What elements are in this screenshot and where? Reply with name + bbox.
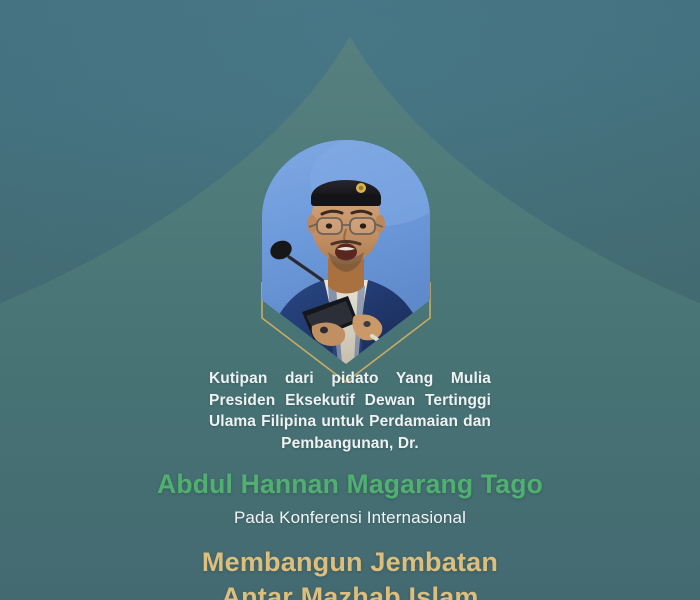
quote-lead-text: Kutipan dari pidato Yang Mulia Presiden … xyxy=(209,368,491,454)
conference-title-line-2: Antar Mazhab Islam xyxy=(0,580,700,600)
text-content: Kutipan dari pidato Yang Mulia Presiden … xyxy=(0,368,700,600)
event-subtitle: Pada Konferensi Internasional xyxy=(0,507,700,529)
poster-canvas: Kutipan dari pidato Yang Mulia Presiden … xyxy=(0,0,700,600)
conference-title: Membangun Jembatan Antar Mazhab Islam xyxy=(0,545,700,600)
speaker-name: Abdul Hannan Magarang Tago xyxy=(0,468,700,500)
portrait-frame xyxy=(262,140,430,372)
speaker-photo xyxy=(262,140,430,364)
conference-title-line-1: Membangun Jembatan xyxy=(0,545,700,580)
